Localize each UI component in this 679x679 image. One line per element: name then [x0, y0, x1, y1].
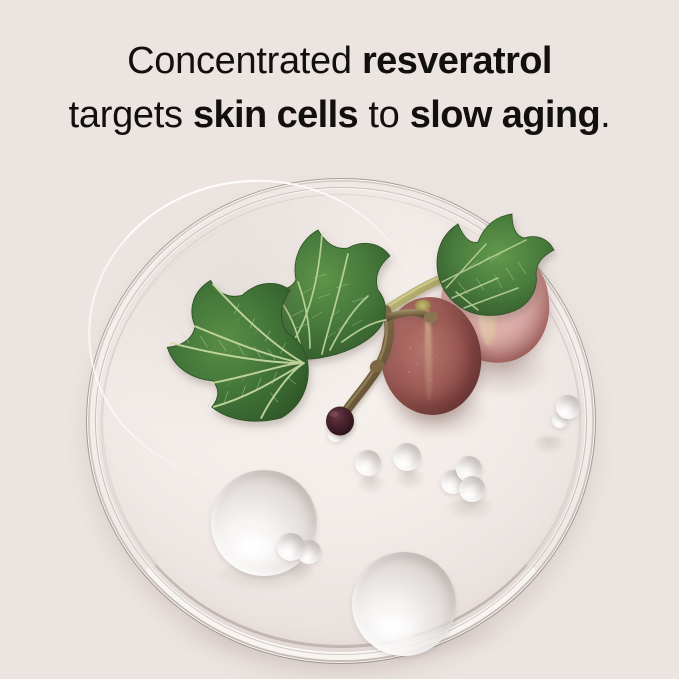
- headline-line1-bold: resveratrol: [362, 40, 552, 82]
- headline-line-1: Concentrated resveratrol: [0, 34, 679, 88]
- headline-line-2: targets skin cells to slow aging.: [0, 88, 679, 142]
- sphere-reflection: [532, 436, 566, 454]
- glass-sphere-medium: [277, 533, 305, 561]
- product-marketing-image: Concentrated resveratrol targets skin ce…: [0, 0, 679, 679]
- headline-line2-regular-1: targets: [69, 94, 193, 136]
- headline-line2-regular-2: to: [358, 94, 410, 136]
- glass-sphere-large-bottom: [352, 552, 456, 656]
- sphere-reflection: [356, 476, 386, 494]
- glass-sphere-behind-leaf: [327, 424, 345, 442]
- glass-sphere-rim-edge: [556, 395, 580, 419]
- headline-line2-bold-2: slow aging: [410, 94, 600, 136]
- headline-line2-bold-1: skin cells: [193, 94, 358, 136]
- sphere-reflection: [394, 470, 426, 490]
- glass-sphere-small: [393, 443, 421, 471]
- headline-period: .: [600, 94, 610, 136]
- headline-line1-regular: Concentrated: [127, 40, 362, 82]
- headline-text: Concentrated resveratrol targets skin ce…: [0, 34, 679, 142]
- glass-sphere-cluster-item: [459, 476, 485, 502]
- glass-sphere-small: [355, 450, 381, 476]
